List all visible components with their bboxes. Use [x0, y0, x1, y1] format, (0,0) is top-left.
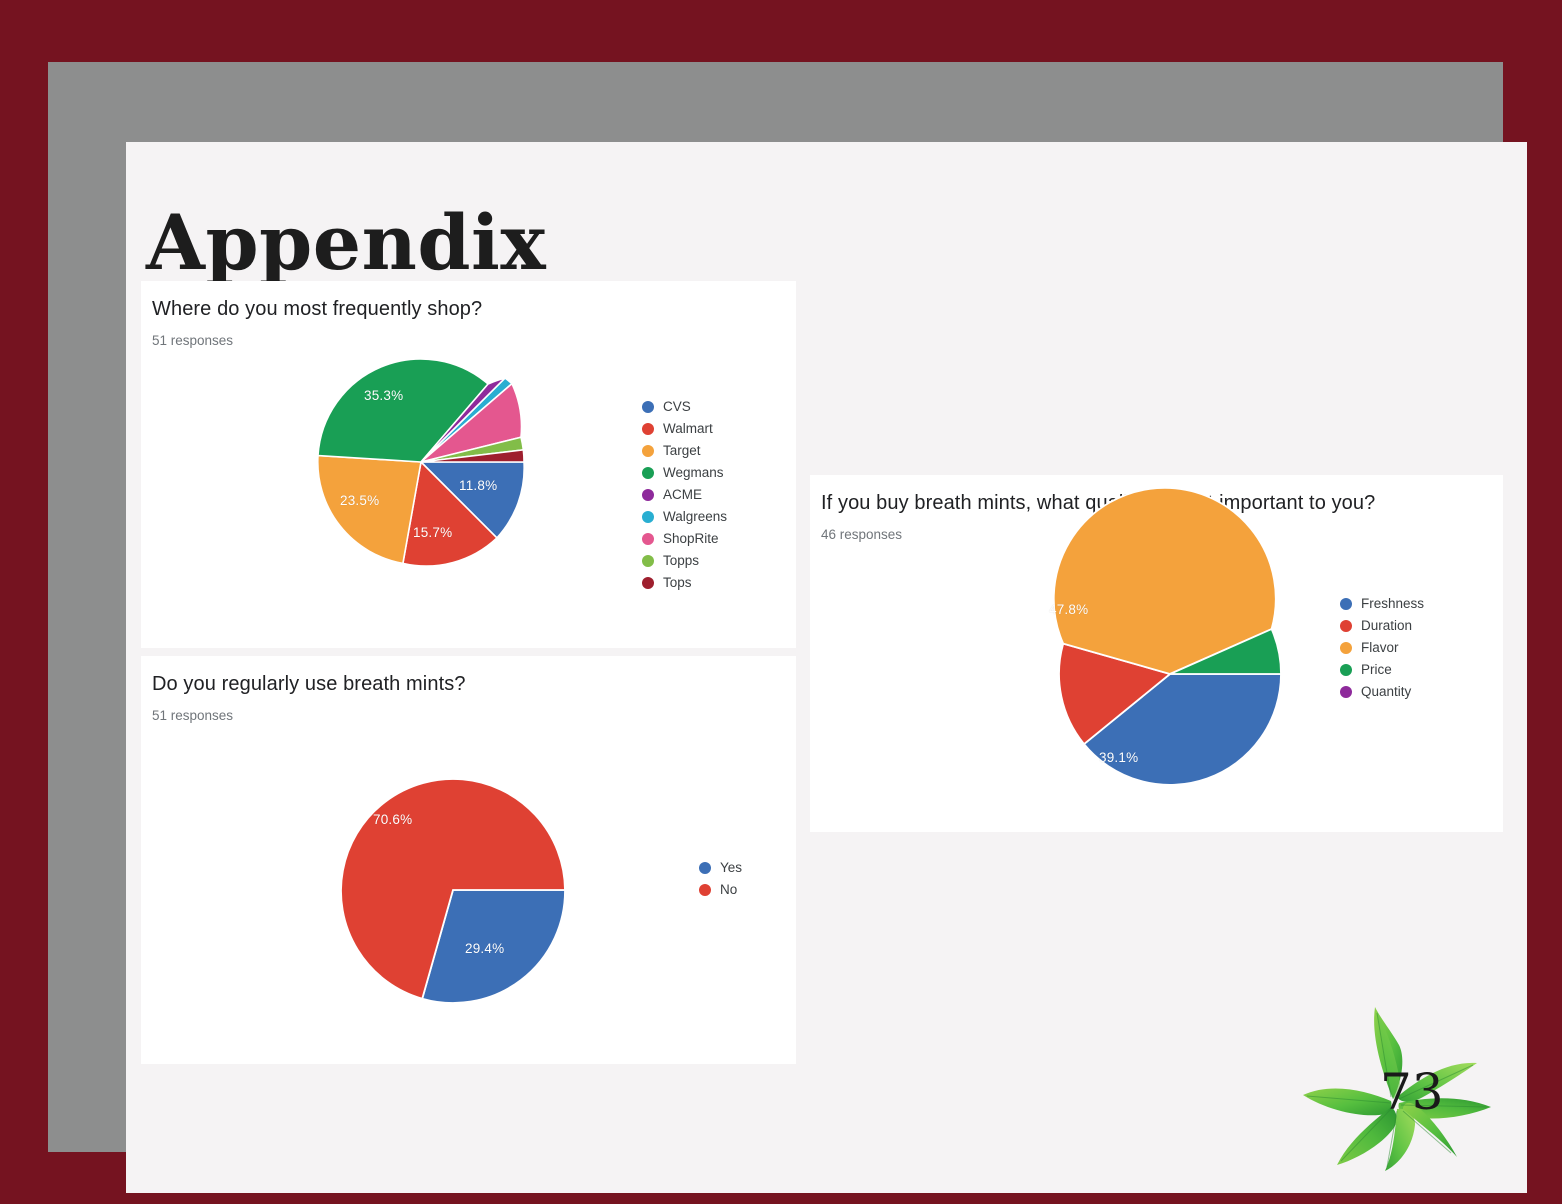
legend-label-wegmans: Wegmans — [663, 466, 724, 480]
chart-card-use-breath-mints: Do you regularly use breath mints? 51 re… — [141, 656, 796, 1064]
legend-important-quality: Freshness Duration Flavor Price — [1340, 593, 1424, 703]
legend-item[interactable]: ACME — [642, 484, 727, 506]
legend-label-shoprite: ShopRite — [663, 532, 719, 546]
pie-slices-important-quality — [1054, 488, 1281, 785]
page-title: Appendix — [146, 205, 546, 281]
legend-swatch-cvs — [642, 401, 654, 413]
legend-item[interactable]: Topps — [642, 550, 727, 572]
pie-label-cvs: 11.8% — [459, 478, 497, 493]
legend-label-cvs: CVS — [663, 400, 691, 414]
legend-item[interactable]: Flavor — [1340, 637, 1424, 659]
legend-item[interactable]: Duration — [1340, 615, 1424, 637]
legend-label-duration: Duration — [1361, 619, 1412, 633]
legend-swatch-no — [699, 884, 711, 896]
legend-swatch-acme — [642, 489, 654, 501]
legend-label-yes: Yes — [720, 861, 742, 875]
legend-swatch-shoprite — [642, 533, 654, 545]
chart-card-important-quality: If you buy breath mints, what quality is… — [810, 475, 1503, 832]
legend-label-acme: ACME — [663, 488, 702, 502]
legend-swatch-walmart — [642, 423, 654, 435]
pie-label-yes: 29.4% — [465, 941, 504, 956]
legend-label-walgreens: Walgreens — [663, 510, 727, 524]
legend-swatch-freshness — [1340, 598, 1352, 610]
legend-swatch-walgreens — [642, 511, 654, 523]
legend-item[interactable]: Yes — [699, 857, 742, 879]
legend-item[interactable]: Walgreens — [642, 506, 727, 528]
legend-item[interactable]: CVS — [642, 396, 727, 418]
slide-background: Appendix Where do you most frequently sh… — [0, 0, 1562, 1204]
legend-item[interactable]: Price — [1340, 659, 1424, 681]
legend-label-flavor: Flavor — [1361, 641, 1399, 655]
chart-card-shop-frequency: Where do you most frequently shop? 51 re… — [141, 281, 796, 648]
page-number: 73 — [1380, 1067, 1444, 1117]
legend-swatch-topps — [642, 555, 654, 567]
pie-chart-use-breath-mints: 70.6% 29.4% — [141, 656, 796, 1064]
legend-label-target: Target — [663, 444, 701, 458]
legend-item[interactable]: ShopRite — [642, 528, 727, 550]
legend-swatch-target — [642, 445, 654, 457]
pie-label-freshness: 39.1% — [1099, 750, 1138, 765]
legend-swatch-flavor — [1340, 642, 1352, 654]
legend-use-breath-mints: Yes No — [699, 857, 742, 901]
legend-label-walmart: Walmart — [663, 422, 713, 436]
legend-item[interactable]: Walmart — [642, 418, 727, 440]
pie-label-no: 70.6% — [373, 812, 412, 827]
legend-swatch-tops — [642, 577, 654, 589]
legend-item[interactable]: Wegmans — [642, 462, 727, 484]
legend-label-topps: Topps — [663, 554, 699, 568]
legend-label-freshness: Freshness — [1361, 597, 1424, 611]
legend-label-quantity: Quantity — [1361, 685, 1411, 699]
pie-label-wegmans: 35.3% — [364, 388, 403, 403]
slide-canvas: Appendix Where do you most frequently sh… — [126, 142, 1527, 1193]
legend-item[interactable]: Tops — [642, 572, 727, 594]
pie-label-walmart: 15.7% — [413, 525, 452, 540]
legend-label-no: No — [720, 883, 737, 897]
legend-swatch-wegmans — [642, 467, 654, 479]
legend-label-price: Price — [1361, 663, 1392, 677]
legend-swatch-duration — [1340, 620, 1352, 632]
legend-item[interactable]: No — [699, 879, 742, 901]
legend-swatch-quantity — [1340, 686, 1352, 698]
legend-item[interactable]: Target — [642, 440, 727, 462]
pie-svg-use-breath-mints — [141, 656, 796, 1064]
slide-frame: Appendix Where do you most frequently sh… — [48, 62, 1503, 1152]
legend-swatch-price — [1340, 664, 1352, 676]
legend-shop-frequency: CVS Walmart Target Wegmans — [642, 396, 727, 594]
legend-label-tops: Tops — [663, 576, 692, 590]
legend-item[interactable]: Freshness — [1340, 593, 1424, 615]
legend-item[interactable]: Quantity — [1340, 681, 1424, 703]
pie-label-target: 23.5% — [340, 493, 379, 508]
pie-label-flavor: 47.8% — [1049, 602, 1088, 617]
legend-swatch-yes — [699, 862, 711, 874]
pie-slice-target — [318, 456, 421, 564]
